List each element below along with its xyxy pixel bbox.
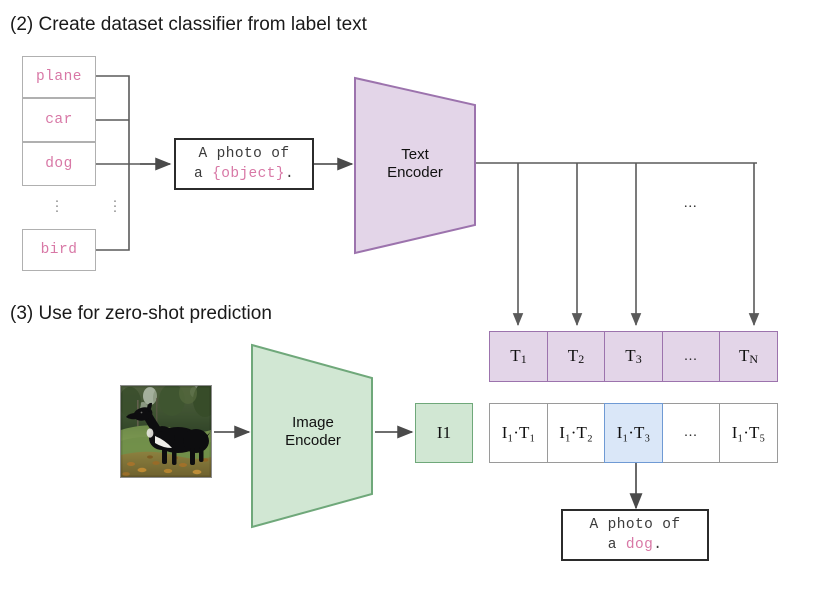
prompt-line-2: a {object}. (194, 164, 294, 184)
cell-label: ... (684, 425, 698, 441)
cell-label: TN (739, 346, 758, 367)
prediction-line-2: a dog. (608, 535, 663, 555)
image-encoder-shape[interactable] (252, 345, 372, 527)
cell-label: I₁·T₂ (559, 423, 593, 443)
label-list-ellipsis-left: ··· (50, 198, 64, 213)
image-embedding-box[interactable]: I1 (415, 403, 473, 463)
label-text: bird (41, 242, 78, 258)
text-embedding-cell[interactable]: T1 (489, 331, 548, 382)
cell-label: I₁·T₅ (732, 423, 766, 443)
prompt-line-1: A photo of (198, 144, 289, 164)
label-text: plane (36, 69, 82, 85)
text-embedding-cell-ellipsis: ... (662, 331, 721, 382)
input-photo[interactable] (120, 385, 212, 478)
text-embedding-row: T1 T2 T3 ... TN (489, 331, 778, 382)
prompt-suffix: . (285, 166, 294, 182)
cell-label: T1 (510, 346, 526, 367)
prediction-line-1: A photo of (589, 515, 680, 535)
label-box-plane[interactable]: plane (22, 56, 96, 98)
similarity-row: I₁·T₁ I₁·T₂ I₁·T₃ ... I₁·T₅ (489, 403, 778, 463)
connector-layer (0, 0, 820, 590)
prompt-template-box[interactable]: A photo of a {object}. (174, 138, 314, 190)
label-list-ellipsis-right: ··· (108, 198, 122, 213)
label-bus-lines (95, 76, 168, 250)
similarity-cell[interactable]: I₁·T₂ (547, 403, 606, 463)
text-embedding-cell[interactable]: T3 (604, 331, 663, 382)
fanout-ellipsis: ... (684, 196, 698, 212)
prediction-prefix: a (608, 537, 626, 553)
label-text: dog (45, 156, 73, 172)
text-embedding-cell[interactable]: TN (719, 331, 778, 382)
similarity-cell-ellipsis: ... (662, 403, 721, 463)
text-encoder-shape[interactable] (355, 78, 475, 253)
label-box-bird[interactable]: bird (22, 229, 96, 271)
text-embedding-cell[interactable]: T2 (547, 331, 606, 382)
cell-label: I₁·T₃ (617, 423, 651, 443)
cell-label: T2 (568, 346, 584, 367)
prompt-prefix: a (194, 166, 212, 182)
prediction-output-box[interactable]: A photo of a dog. (561, 509, 709, 561)
cell-label: ... (684, 349, 698, 365)
prompt-slot: {object} (212, 166, 285, 182)
similarity-cell[interactable]: I₁·T₁ (489, 403, 548, 463)
cell-label: T3 (625, 346, 641, 367)
image-embedding-label: I1 (437, 423, 451, 443)
diagram-canvas: (2) Create dataset classifier from label… (0, 0, 820, 590)
prediction-suffix: . (653, 537, 662, 553)
similarity-cell[interactable]: I₁·T₅ (719, 403, 778, 463)
label-box-dog[interactable]: dog (22, 142, 96, 186)
label-text: car (45, 112, 73, 128)
text-encoder-fanout (475, 163, 757, 325)
similarity-cell-selected[interactable]: I₁·T₃ (604, 403, 663, 463)
prediction-slot: dog (626, 537, 653, 553)
cell-label: I₁·T₁ (502, 423, 536, 443)
section-heading-create-classifier: (2) Create dataset classifier from label… (10, 14, 367, 36)
label-box-car[interactable]: car (22, 98, 96, 142)
section-heading-zero-shot: (3) Use for zero-shot prediction (10, 303, 272, 325)
